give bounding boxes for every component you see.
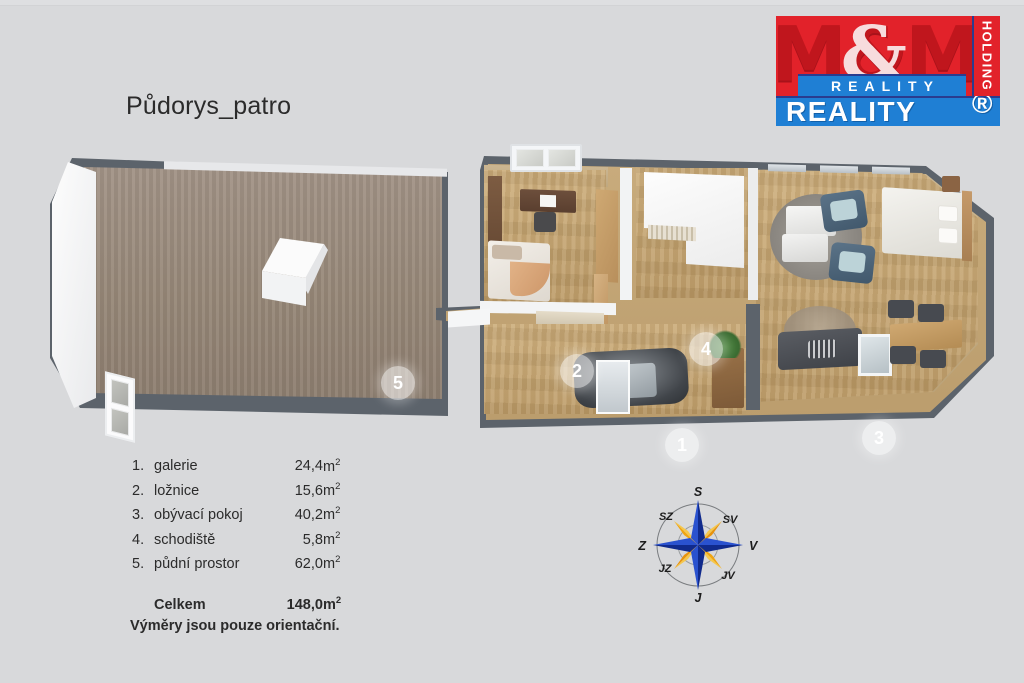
desk	[520, 189, 576, 213]
living-room-west-wall	[746, 304, 760, 410]
pillow	[938, 205, 958, 222]
cushion	[838, 251, 866, 274]
stair-glass-panel	[596, 360, 630, 414]
legend-area: 40,2	[287, 503, 323, 527]
legend-unit: m2	[323, 552, 341, 576]
wardrobe	[596, 189, 618, 283]
legend-number: 3.	[132, 503, 154, 527]
compass-label-east: V	[749, 539, 759, 553]
legend-row: 5. půdní prostor 62,0 m2	[132, 552, 341, 576]
headboard	[962, 191, 972, 262]
page-title: Půdorys_patro	[126, 92, 291, 121]
stair-treads	[648, 225, 696, 242]
unit-text: m	[323, 507, 335, 523]
legend-total-label: Celkem	[154, 576, 287, 617]
bedroom-shelf	[488, 176, 502, 242]
unit-exponent: 2	[336, 595, 341, 606]
legend-total-row: Celkem 148,0 m2	[132, 576, 341, 617]
legend-area: 62,0	[287, 552, 323, 576]
legend-room-name: schodiště	[154, 527, 287, 551]
unit-exponent: 2	[335, 457, 340, 468]
legend-unit: m2	[323, 503, 341, 527]
unit-text: m	[323, 556, 335, 572]
desk-chair	[534, 212, 556, 232]
room-badge-3: 3	[862, 421, 896, 455]
legend-room-name: obývací pokoj	[154, 503, 287, 527]
bedroom-bed	[488, 240, 550, 301]
legend-number: 4.	[132, 527, 154, 551]
attic-west-wall	[52, 160, 96, 410]
west-doorway	[448, 309, 490, 328]
compass-label-southwest: JZ	[659, 563, 673, 575]
attic-window	[105, 371, 135, 442]
compass-label-south: J	[695, 591, 703, 605]
logo-reality-large: REALITY ®	[776, 96, 1000, 126]
unit-text: m	[323, 597, 336, 613]
compass-label-north: S	[694, 485, 703, 499]
legend-unit: m2	[323, 527, 341, 551]
living-room-bed	[882, 187, 966, 259]
legend-number: 1.	[132, 454, 154, 478]
logo-reality-large-text: REALITY	[776, 96, 916, 128]
pillow	[492, 245, 522, 261]
window-pane	[548, 149, 576, 167]
logo-holding-strip: HOLDING	[972, 16, 1000, 96]
window-pane	[111, 379, 129, 407]
bedroom-window	[510, 144, 582, 172]
legend-row: 1. galerie 24,4 m2	[132, 454, 341, 478]
legend-total-area: 148,0	[287, 576, 323, 617]
legend-unit: m2	[323, 454, 341, 478]
bed-throw	[510, 262, 550, 298]
disclaimer-note: Výměry jsou pouze orientační.	[130, 618, 340, 634]
stool	[920, 350, 946, 368]
sofa-throw	[808, 339, 836, 358]
attic-storage-box	[262, 238, 344, 306]
cushion	[830, 198, 859, 221]
compass-label-northeast: SV	[723, 514, 739, 526]
room-legend: 1. galerie 24,4 m2 2. ložnice 15,6 m2 3.…	[132, 454, 341, 617]
nightstand	[942, 176, 960, 192]
unit-exponent: 2	[335, 481, 340, 492]
room-badge-2: 2	[560, 354, 594, 388]
stool	[888, 300, 914, 318]
stool	[918, 304, 944, 322]
legend-number: 5.	[132, 552, 154, 576]
legend-area: 24,4	[287, 454, 323, 478]
legend-area: 5,8	[287, 527, 323, 551]
coffee-table	[782, 234, 828, 262]
compass-rose: S J V Z SZ SV JZ JV	[636, 484, 768, 606]
legend-row: 4. schodiště 5,8 m2	[132, 527, 341, 551]
top-edge-band	[0, 0, 1024, 6]
window-strip	[768, 164, 806, 172]
staircase-west-wall	[620, 168, 632, 300]
legend-room-name: půdní prostor	[154, 552, 287, 576]
paper-sheet	[540, 195, 556, 208]
legend-body: 1. galerie 24,4 m2 2. ložnice 15,6 m2 3.…	[132, 454, 341, 617]
compass-label-southeast: JV	[721, 570, 736, 582]
room-badge-4: 4	[689, 332, 723, 366]
staircase-east-wall	[748, 168, 758, 300]
unit-text: m	[323, 483, 335, 499]
unit-text: m	[323, 532, 335, 548]
armchair	[828, 242, 876, 284]
window-strip	[820, 165, 858, 173]
armchair	[820, 189, 869, 233]
legend-row: 2. ložnice 15,6 m2	[132, 478, 341, 502]
window-pane	[516, 149, 544, 167]
legend-unit: m2	[323, 478, 341, 502]
unit-text: m	[323, 458, 335, 474]
floorplan-render: 5 2 4 1 3	[44, 134, 994, 434]
company-logo: M&M & REALITY REALITY ® HOLDING	[776, 16, 1000, 126]
window-pane	[111, 408, 129, 436]
legend-row: 3. obývací pokoj 40,2 m2	[132, 503, 341, 527]
skylight-opening	[858, 334, 892, 376]
sofa	[778, 328, 862, 370]
legend-room-name: ložnice	[154, 478, 287, 502]
pillow	[938, 227, 958, 244]
unit-exponent: 2	[335, 530, 340, 541]
compass-label-west: Z	[637, 539, 647, 553]
stool	[890, 346, 916, 364]
compass-label-northwest: SZ	[659, 511, 674, 523]
legend-area: 15,6	[287, 478, 323, 502]
logo-holding-text: HOLDING	[980, 21, 995, 91]
window-strip	[872, 167, 910, 175]
room-badge-5: 5	[381, 366, 415, 400]
legend-total-unit: m2	[323, 576, 341, 617]
floorplan-page: Půdorys_patro M&M & REALITY REALITY ® HO…	[0, 0, 1024, 683]
unit-exponent: 2	[335, 505, 340, 516]
legend-table: 1. galerie 24,4 m2 2. ložnice 15,6 m2 3.…	[132, 454, 341, 617]
room-badge-1: 1	[665, 428, 699, 462]
logo-reality-small-text: REALITY	[824, 78, 940, 94]
compass-svg: S J V Z SZ SV JZ JV	[636, 484, 768, 606]
logo-reality-small: REALITY	[798, 74, 966, 96]
legend-number: 2.	[132, 478, 154, 502]
legend-total-spacer	[132, 576, 154, 617]
legend-room-name: galerie	[154, 454, 287, 478]
unit-exponent: 2	[335, 554, 340, 565]
